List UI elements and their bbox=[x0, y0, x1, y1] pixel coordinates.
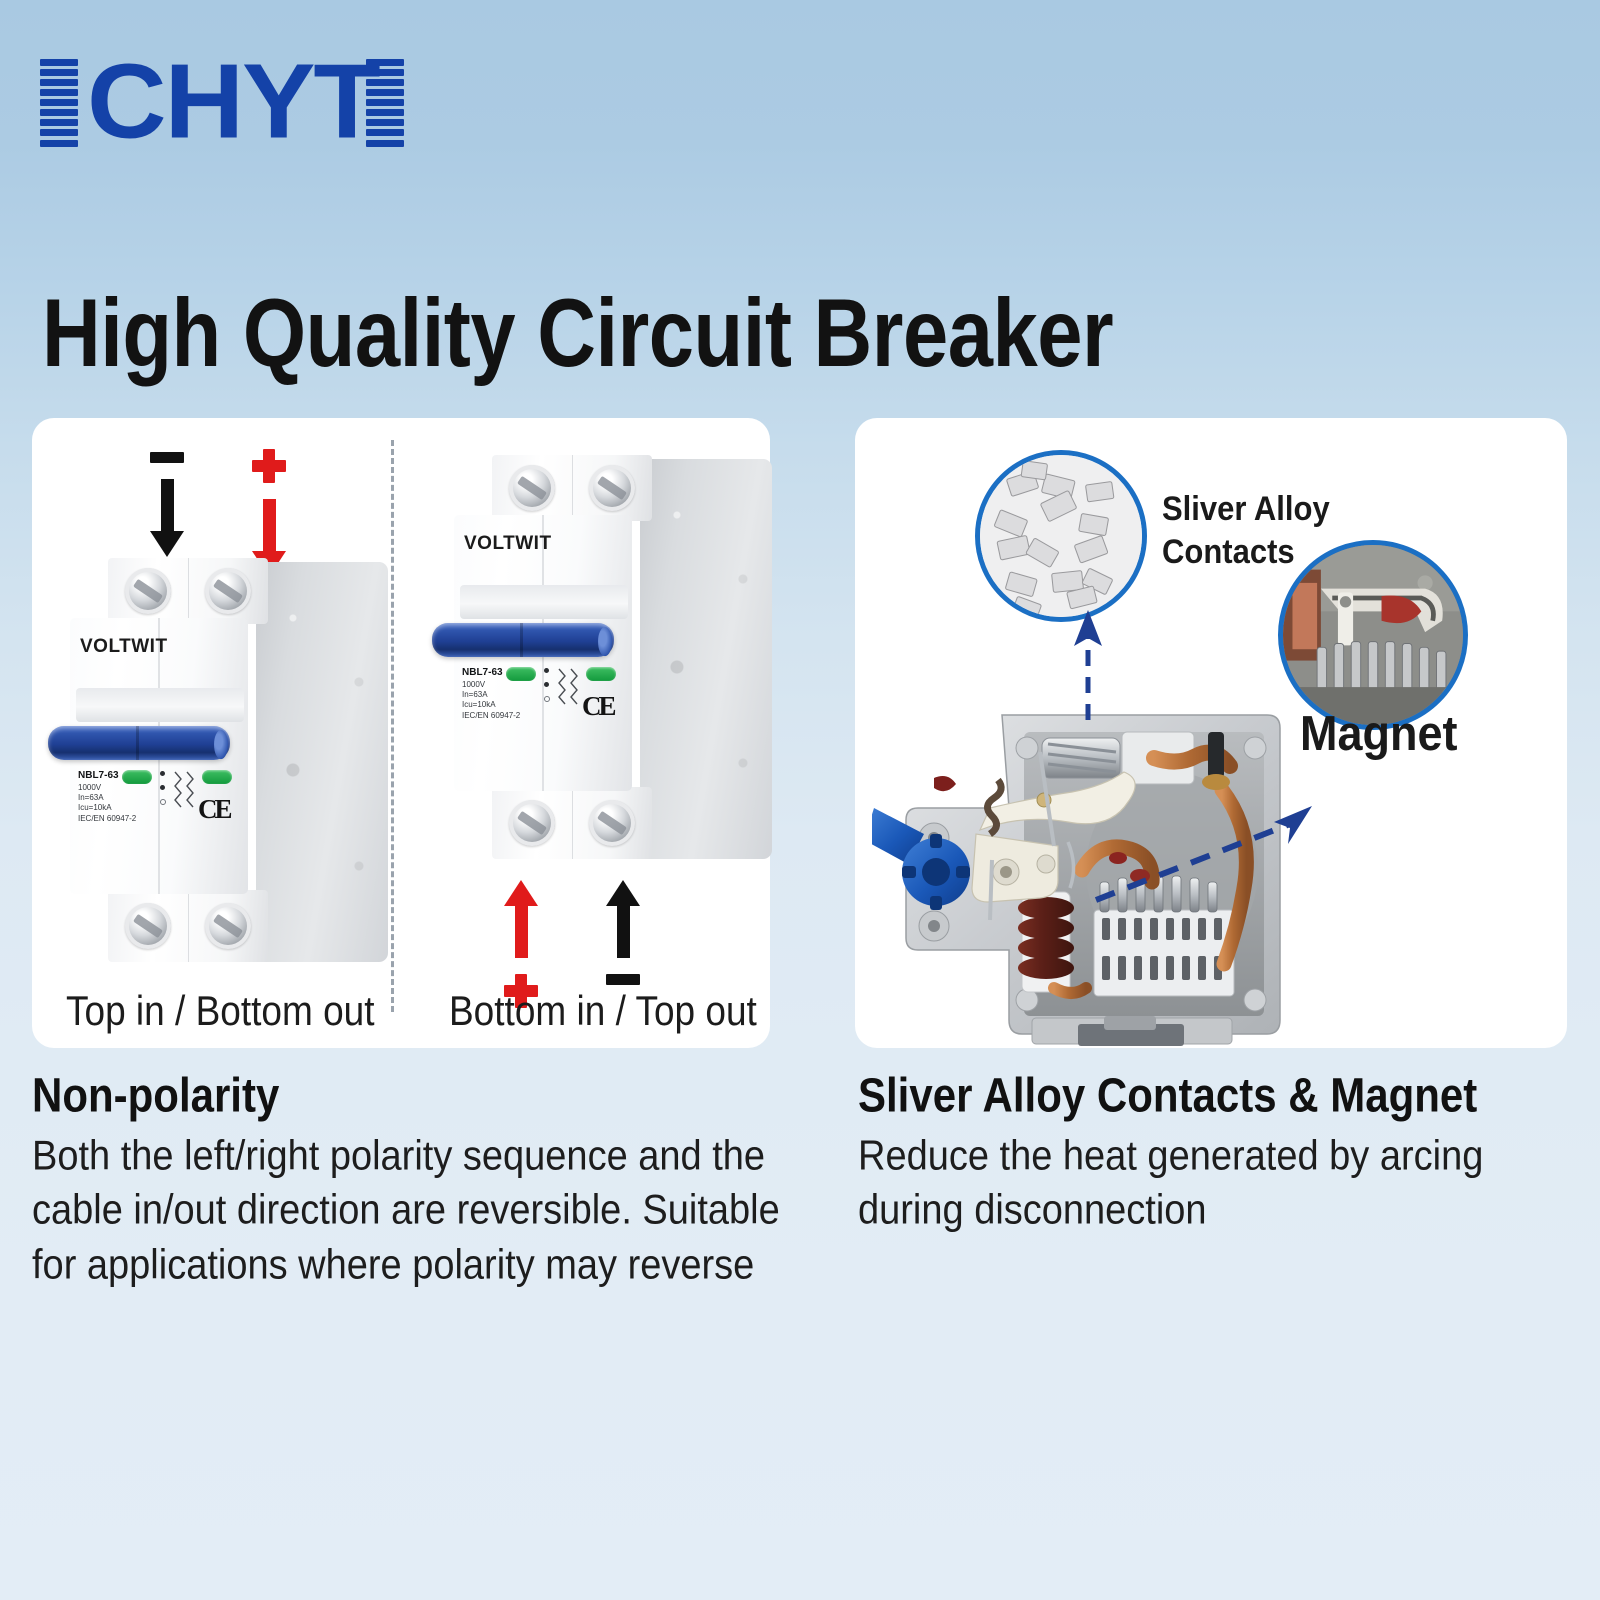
breaker-schematic-icon bbox=[554, 665, 582, 707]
caption-bottom-in-top-out: Bottom in / Top out bbox=[449, 988, 757, 1035]
section-title: Non-polarity bbox=[32, 1068, 822, 1123]
breaker-state-dots bbox=[160, 771, 166, 805]
breaker-top-terminals bbox=[492, 455, 652, 521]
arrow-up-icon bbox=[606, 880, 640, 958]
terminal-screw-icon bbox=[589, 465, 635, 511]
sign-group-minus-up bbox=[606, 880, 640, 985]
section-contacts-magnet: Sliver Alloy Contacts & Magnet Reduce th… bbox=[858, 1068, 1558, 1229]
terminal-screw-icon bbox=[205, 903, 251, 949]
breaker-toggle-lever[interactable] bbox=[432, 623, 614, 657]
terminal-screw-icon bbox=[125, 568, 171, 614]
terminal-screw-icon bbox=[125, 903, 171, 949]
breaker-rocker-slot bbox=[460, 585, 628, 619]
breaker-rocker-slot bbox=[76, 688, 244, 722]
terminal-screw-icon bbox=[509, 465, 555, 511]
brand-logo: CHYT bbox=[40, 55, 404, 150]
caption-top-in-bottom-out: Top in / Bottom out bbox=[66, 988, 375, 1035]
card-divider bbox=[391, 440, 394, 1012]
sign-group-minus-down bbox=[150, 452, 184, 557]
status-indicator bbox=[122, 770, 152, 784]
breaker-top-terminals bbox=[108, 558, 268, 624]
ce-mark-icon: CE bbox=[198, 794, 230, 825]
breaker-unit-b: VOLTWIT NBL7-63 1000V In=63A Icu=10kA IE… bbox=[432, 455, 762, 865]
section-body: Both the left/right polarity sequence an… bbox=[32, 1130, 822, 1293]
breaker-toggle-lever[interactable] bbox=[48, 726, 230, 760]
terminal-screw-icon bbox=[589, 800, 635, 846]
section-non-polarity: Non-polarity Both the left/right polarit… bbox=[32, 1068, 822, 1278]
breaker-brand-text: VOLTWIT bbox=[464, 533, 552, 555]
minus-sign-icon bbox=[150, 452, 184, 463]
status-indicator bbox=[202, 770, 232, 784]
breaker-side-body bbox=[640, 459, 772, 859]
breaker-unit-a: VOLTWIT NBL7-63 1000V In=63A Icu=10kA IE… bbox=[48, 558, 378, 968]
section-title: Sliver Alloy Contacts & Magnet bbox=[858, 1068, 1558, 1123]
breaker-bottom-terminals bbox=[108, 890, 268, 962]
breaker-side-body bbox=[256, 562, 388, 962]
status-indicator bbox=[506, 667, 536, 681]
arrow-up-icon bbox=[504, 880, 538, 958]
section-body: Reduce the heat generated by arcing duri… bbox=[858, 1130, 1558, 1239]
status-indicator bbox=[586, 667, 616, 681]
inset-silver-alloy-contacts bbox=[975, 450, 1147, 622]
plus-sign-icon bbox=[252, 449, 286, 483]
page-title: High Quality Circuit Breaker bbox=[42, 278, 1414, 389]
callout-label-magnet: Magnet bbox=[1300, 705, 1458, 762]
arrow-down-icon bbox=[150, 479, 184, 557]
callout-label-contacts: Sliver Alloy Contacts bbox=[1162, 488, 1330, 573]
ce-mark-icon: CE bbox=[582, 691, 614, 722]
logo-bars-left bbox=[40, 59, 78, 147]
breaker-schematic-icon bbox=[170, 768, 198, 810]
breaker-bottom-terminals bbox=[492, 787, 652, 859]
breaker-state-dots bbox=[544, 668, 550, 702]
terminal-screw-icon bbox=[509, 800, 555, 846]
breaker-brand-text: VOLTWIT bbox=[80, 636, 168, 658]
minus-sign-icon bbox=[606, 974, 640, 985]
logo-wordmark: CHYT bbox=[87, 57, 379, 148]
terminal-screw-icon bbox=[205, 568, 251, 614]
